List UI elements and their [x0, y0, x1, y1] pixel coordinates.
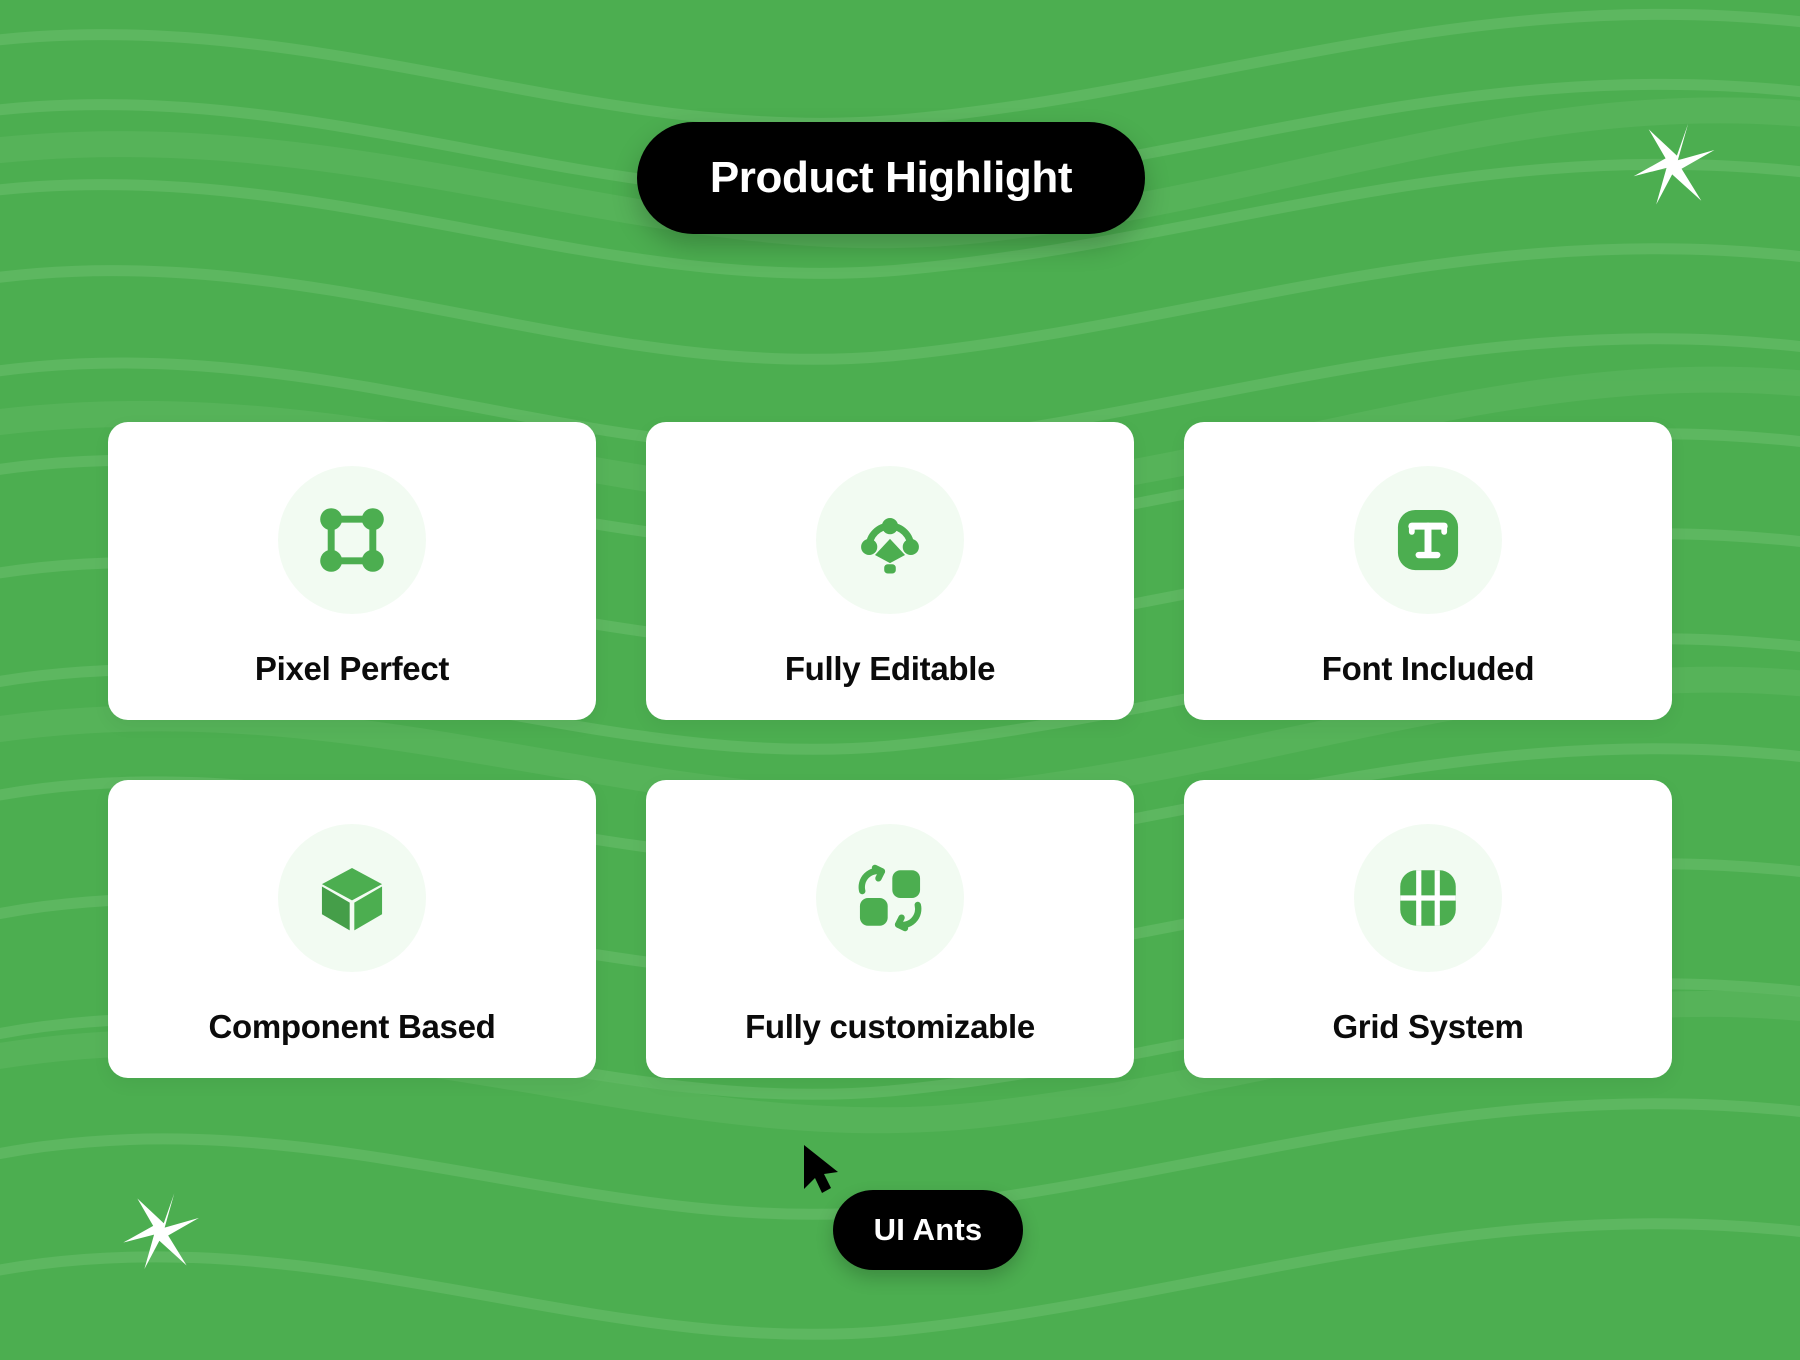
- icon-circle: [816, 824, 964, 972]
- pixel-perfect-nodes-icon: [315, 503, 389, 577]
- grid-icon: [1391, 861, 1465, 935]
- feature-card-label: Font Included: [1322, 650, 1534, 688]
- page-title-pill: Product Highlight: [637, 122, 1145, 234]
- cursor-pointer-icon: [800, 1143, 842, 1195]
- brand-pill[interactable]: UI Ants: [833, 1190, 1023, 1270]
- feature-card-label: Component Based: [208, 1008, 495, 1046]
- icon-circle: [1354, 824, 1502, 972]
- feature-card-label: Pixel Perfect: [255, 650, 449, 688]
- icon-circle: [816, 466, 964, 614]
- feature-card-fully-customizable[interactable]: Fully customizable: [646, 780, 1134, 1078]
- feature-card-label: Fully customizable: [745, 1008, 1035, 1046]
- feature-card-component-based[interactable]: Component Based: [108, 780, 596, 1078]
- icon-circle: [278, 466, 426, 614]
- icon-circle: [278, 824, 426, 972]
- feature-card-font-included[interactable]: Font Included: [1184, 422, 1672, 720]
- pen-tool-icon: [853, 503, 927, 577]
- customize-swap-icon: [853, 861, 927, 935]
- feature-card-label: Grid System: [1332, 1008, 1523, 1046]
- feature-card-fully-editable[interactable]: Fully Editable: [646, 422, 1134, 720]
- feature-cards-grid: Pixel Perfect Fully Editable: [108, 422, 1672, 1078]
- feature-card-grid-system[interactable]: Grid System: [1184, 780, 1672, 1078]
- feature-card-pixel-perfect[interactable]: Pixel Perfect: [108, 422, 596, 720]
- page-title: Product Highlight: [710, 153, 1072, 203]
- sparkle-icon: [1628, 118, 1722, 212]
- cube-icon: [315, 861, 389, 935]
- text-type-icon: [1391, 503, 1465, 577]
- icon-circle: [1354, 466, 1502, 614]
- brand-label: UI Ants: [874, 1212, 983, 1248]
- sparkle-icon: [118, 1188, 206, 1276]
- feature-card-label: Fully Editable: [785, 650, 995, 688]
